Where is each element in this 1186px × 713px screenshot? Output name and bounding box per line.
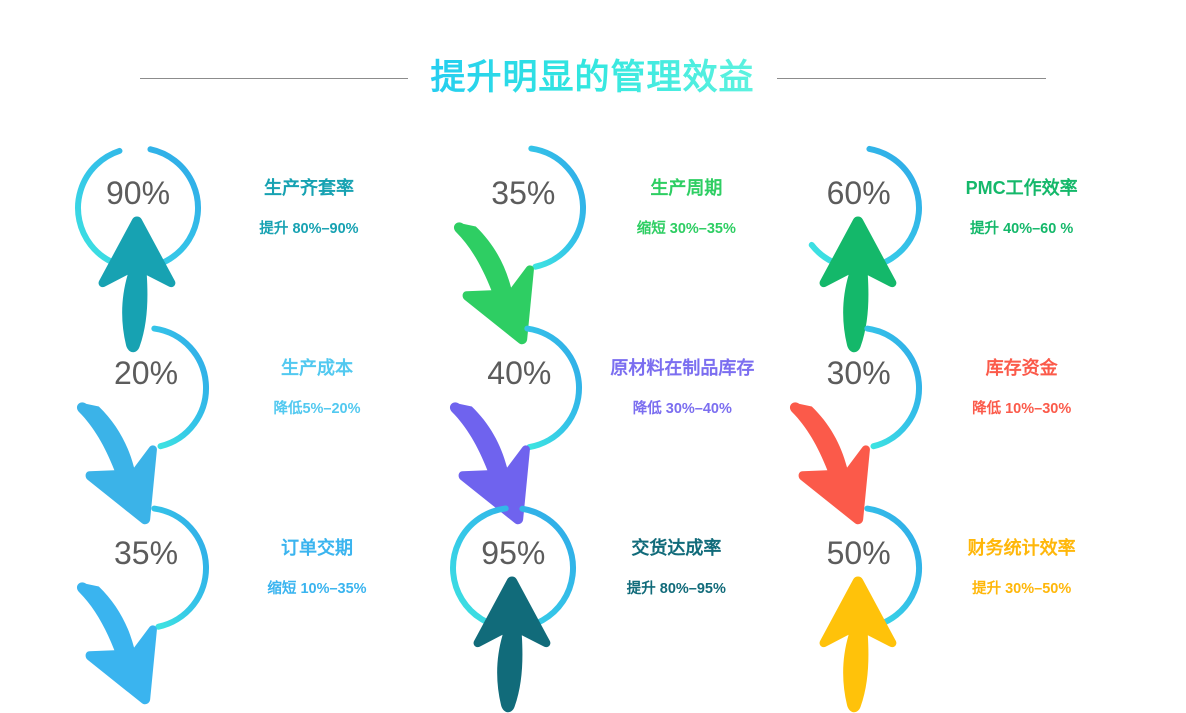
metric-title: PMC工作效率 xyxy=(966,178,1078,200)
progress-ring: 20% xyxy=(76,318,216,458)
progress-ring: 35% xyxy=(76,498,216,638)
metric-card: 35% 订单交期 缩短 10%–35% xyxy=(68,478,421,658)
metric-card: 90% 生产齐套率 提升 80%–90% xyxy=(68,118,421,298)
page-header: 提升明显的管理效益 xyxy=(0,50,1186,106)
progress-ring: 35% xyxy=(453,138,593,278)
metric-subtitle: 提升 30%–50% xyxy=(972,581,1071,598)
metric-title: 原材料在制品库存 xyxy=(610,358,754,380)
arrow-up-icon xyxy=(789,573,929,599)
metric-text-block: 生产成本 降低5%–20% xyxy=(242,358,392,419)
arrow-up-icon xyxy=(68,213,208,239)
arrow-down-icon xyxy=(789,393,929,419)
metric-title: 库存资金 xyxy=(986,358,1058,380)
metric-text-block: 库存资金 降低 10%–30% xyxy=(947,358,1097,419)
metric-text-block: 生产周期 缩短 30%–35% xyxy=(611,178,761,239)
gauge-center: 20% xyxy=(76,318,216,458)
metric-title: 订单交期 xyxy=(281,538,353,560)
progress-ring: 40% xyxy=(449,318,589,458)
progress-ring: 50% xyxy=(789,498,929,638)
gauge-value: 40% xyxy=(487,357,551,389)
progress-ring: 30% xyxy=(789,318,929,458)
gauge-value: 95% xyxy=(481,537,545,569)
metric-subtitle: 降低 10%–30% xyxy=(972,401,1071,418)
metric-card-grid: 90% 生产齐套率 提升 80%–90% xyxy=(68,118,1128,658)
metric-card: 20% 生产成本 降低5%–20% xyxy=(68,298,421,478)
metric-card: 40% 原材料在制品库存 降低 30%–40% xyxy=(421,298,774,478)
metric-text-block: 生产齐套率 提升 80%–90% xyxy=(234,178,384,239)
metric-text-block: 交货达成率 提升 80%–95% xyxy=(601,538,751,599)
header-rule-left xyxy=(140,78,408,79)
metric-subtitle: 降低5%–20% xyxy=(273,401,360,418)
gauge-center: 50% xyxy=(789,498,929,638)
metric-title: 交货达成率 xyxy=(631,538,721,560)
gauge-center: 40% xyxy=(449,318,589,458)
metric-text-block: 订单交期 缩短 10%–35% xyxy=(242,538,392,599)
gauge-center: 95% xyxy=(443,498,583,638)
metric-title: 生产齐套率 xyxy=(264,178,354,200)
gauge-center: 35% xyxy=(453,138,593,278)
metric-card: 60% PMC工作效率 提升 40%–60 % xyxy=(775,118,1128,298)
metric-subtitle: 缩短 30%–35% xyxy=(637,221,736,238)
gauge-value: 50% xyxy=(827,537,891,569)
gauge-value: 20% xyxy=(114,357,178,389)
arrow-down-icon xyxy=(449,393,589,419)
metric-subtitle: 提升 80%–90% xyxy=(259,221,358,238)
metric-text-block: PMC工作效率 提升 40%–60 % xyxy=(947,178,1097,239)
metric-text-block: 原材料在制品库存 降低 30%–40% xyxy=(607,358,757,419)
metric-subtitle: 提升 80%–95% xyxy=(627,581,726,598)
metric-card: 30% 库存资金 降低 10%–30% xyxy=(775,298,1128,478)
metric-card: 95% 交货达成率 提升 80%–95% xyxy=(421,478,774,658)
gauge-value: 35% xyxy=(114,537,178,569)
arrow-up-icon xyxy=(443,573,583,599)
page-title: 提升明显的管理效益 xyxy=(430,58,754,98)
metric-subtitle: 降低 30%–40% xyxy=(633,401,732,418)
metric-text-block: 财务统计效率 提升 30%–50% xyxy=(947,538,1097,599)
metric-subtitle: 提升 40%–60 % xyxy=(970,221,1073,238)
header-rule-right xyxy=(777,78,1046,79)
metric-card: 50% 财务统计效率 提升 30%–50% xyxy=(775,478,1128,658)
gauge-value: 35% xyxy=(491,177,555,209)
gauge-value: 90% xyxy=(106,177,170,209)
gauge-center: 30% xyxy=(789,318,929,458)
arrow-down-icon xyxy=(76,393,216,419)
arrow-down-icon xyxy=(453,213,593,239)
progress-ring: 95% xyxy=(443,498,583,638)
gauge-center: 90% xyxy=(68,138,208,278)
progress-ring: 90% xyxy=(68,138,208,278)
metric-title: 财务统计效率 xyxy=(968,538,1076,560)
metric-title: 生产周期 xyxy=(650,178,722,200)
metric-title: 生产成本 xyxy=(281,358,353,380)
arrow-down-icon xyxy=(76,573,216,599)
metric-subtitle: 缩短 10%–35% xyxy=(267,581,366,598)
metric-card: 35% 生产周期 缩短 30%–35% xyxy=(421,118,774,298)
gauge-value: 30% xyxy=(827,357,891,389)
gauge-center: 60% xyxy=(789,138,929,278)
progress-ring: 60% xyxy=(789,138,929,278)
gauge-center: 35% xyxy=(76,498,216,638)
arrow-up-icon xyxy=(789,213,929,239)
gauge-value: 60% xyxy=(827,177,891,209)
